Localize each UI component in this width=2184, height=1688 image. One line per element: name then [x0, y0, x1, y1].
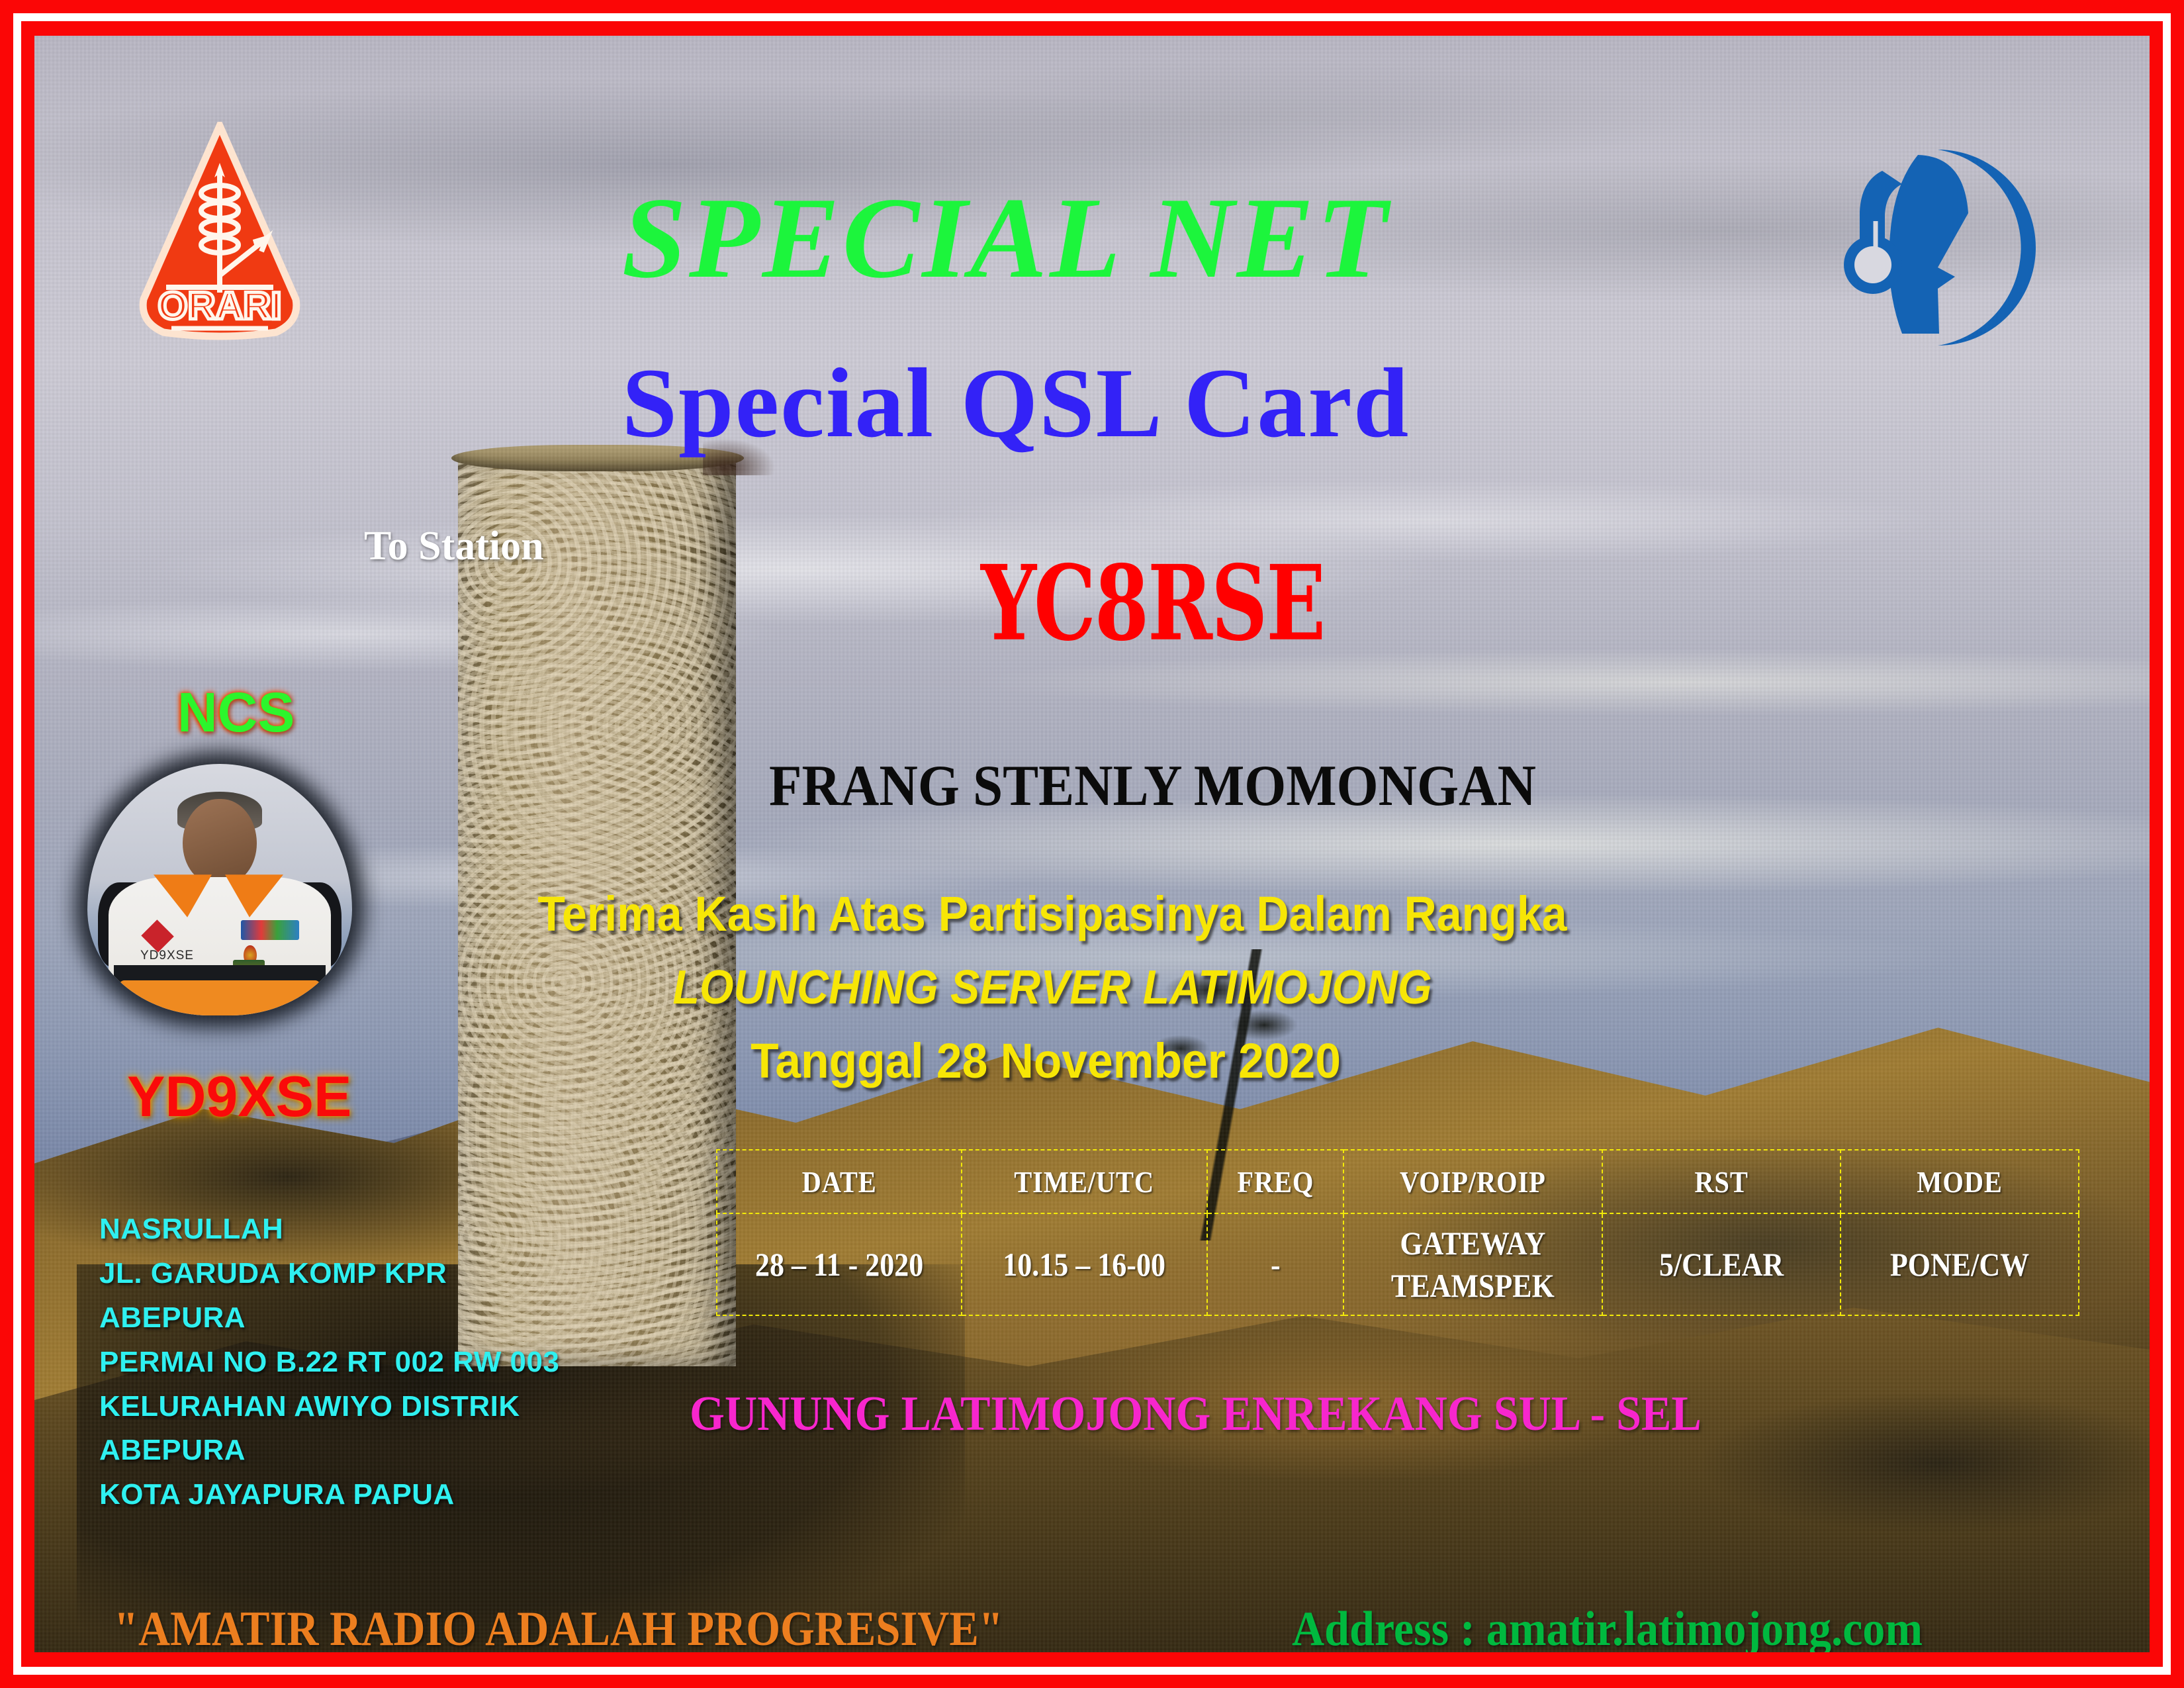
cell-time: 10.15 – 16-00	[962, 1213, 1206, 1315]
address-line: ABEPURA	[99, 1296, 559, 1340]
cell-voip-roip: GATEWAY TEAMSPEK	[1343, 1213, 1602, 1315]
footer-slogan: "AMATIR RADIO ADALAH PROGRESIVE"	[114, 1605, 1003, 1652]
table-header-row: DATE TIME/UTC FREQ VOIP/ROIP RST MODE	[717, 1150, 2079, 1213]
address-line: ABEPURA	[99, 1429, 559, 1473]
qsl-card: ORARI	[0, 0, 2184, 1688]
portrait-face	[183, 799, 257, 884]
address-line: JL. GARUDA KOMP KPR	[99, 1252, 559, 1296]
location-caption: GUNUNG LATIMOJONG ENREKANG SUL - SEL	[690, 1389, 1702, 1438]
column-header-rst: RST	[1602, 1150, 1841, 1213]
address-line: KELURAHAN AWIYO DISTRIK	[99, 1385, 559, 1429]
column-header-voip-roip: VOIP/ROIP	[1343, 1150, 1602, 1213]
column-header-freq: FREQ	[1207, 1150, 1344, 1213]
thanks-line-3: Tanggal 28 November 2020	[95, 1037, 1997, 1086]
column-header-date: DATE	[717, 1150, 962, 1213]
thanks-line-2: LOUNCHING SERVER LATIMOJONG	[116, 964, 1989, 1011]
background-photograph: ORARI	[34, 36, 2150, 1652]
ncs-label: NCS	[177, 684, 295, 740]
cell-rst: 5/CLEAR	[1602, 1213, 1841, 1315]
mailing-address: NASRULLAH JL. GARUDA KOMP KPR ABEPURA PE…	[99, 1207, 559, 1517]
page-title: SPECIAL NET	[34, 180, 1978, 296]
address-line: NASRULLAH	[99, 1207, 559, 1252]
ncs-callsign: YD9XSE	[127, 1068, 351, 1125]
footer-web-address: Address : amatir.latimojong.com	[1292, 1605, 1923, 1652]
column-header-time: TIME/UTC	[962, 1150, 1206, 1213]
station-callsign: YC8RSE	[981, 552, 1324, 655]
table-row: 28 – 11 - 2020 10.15 – 16-00 - GATEWAY T…	[717, 1213, 2079, 1315]
portrait-callsign-embroidery: YD9XSE	[140, 949, 194, 963]
address-line: KOTA JAYAPURA PAPUA	[99, 1473, 559, 1517]
operator-name: FRANG STENLY MOMONGAN	[769, 757, 1536, 816]
qso-log-table: DATE TIME/UTC FREQ VOIP/ROIP RST MODE 28…	[716, 1149, 2079, 1316]
cell-mode: PONE/CW	[1841, 1213, 2079, 1315]
cell-freq: -	[1207, 1213, 1344, 1315]
page-subtitle: Special QSL Card	[34, 353, 1997, 453]
column-header-mode: MODE	[1841, 1150, 2079, 1213]
cell-date: 28 – 11 - 2020	[717, 1213, 962, 1315]
address-line: PERMAI NO B.22 RT 002 RW 003	[99, 1340, 559, 1385]
thanks-line-1: Terima Kasih Atas Partisipasinya Dalam R…	[116, 890, 1989, 939]
to-station-label: To Station	[364, 526, 544, 567]
